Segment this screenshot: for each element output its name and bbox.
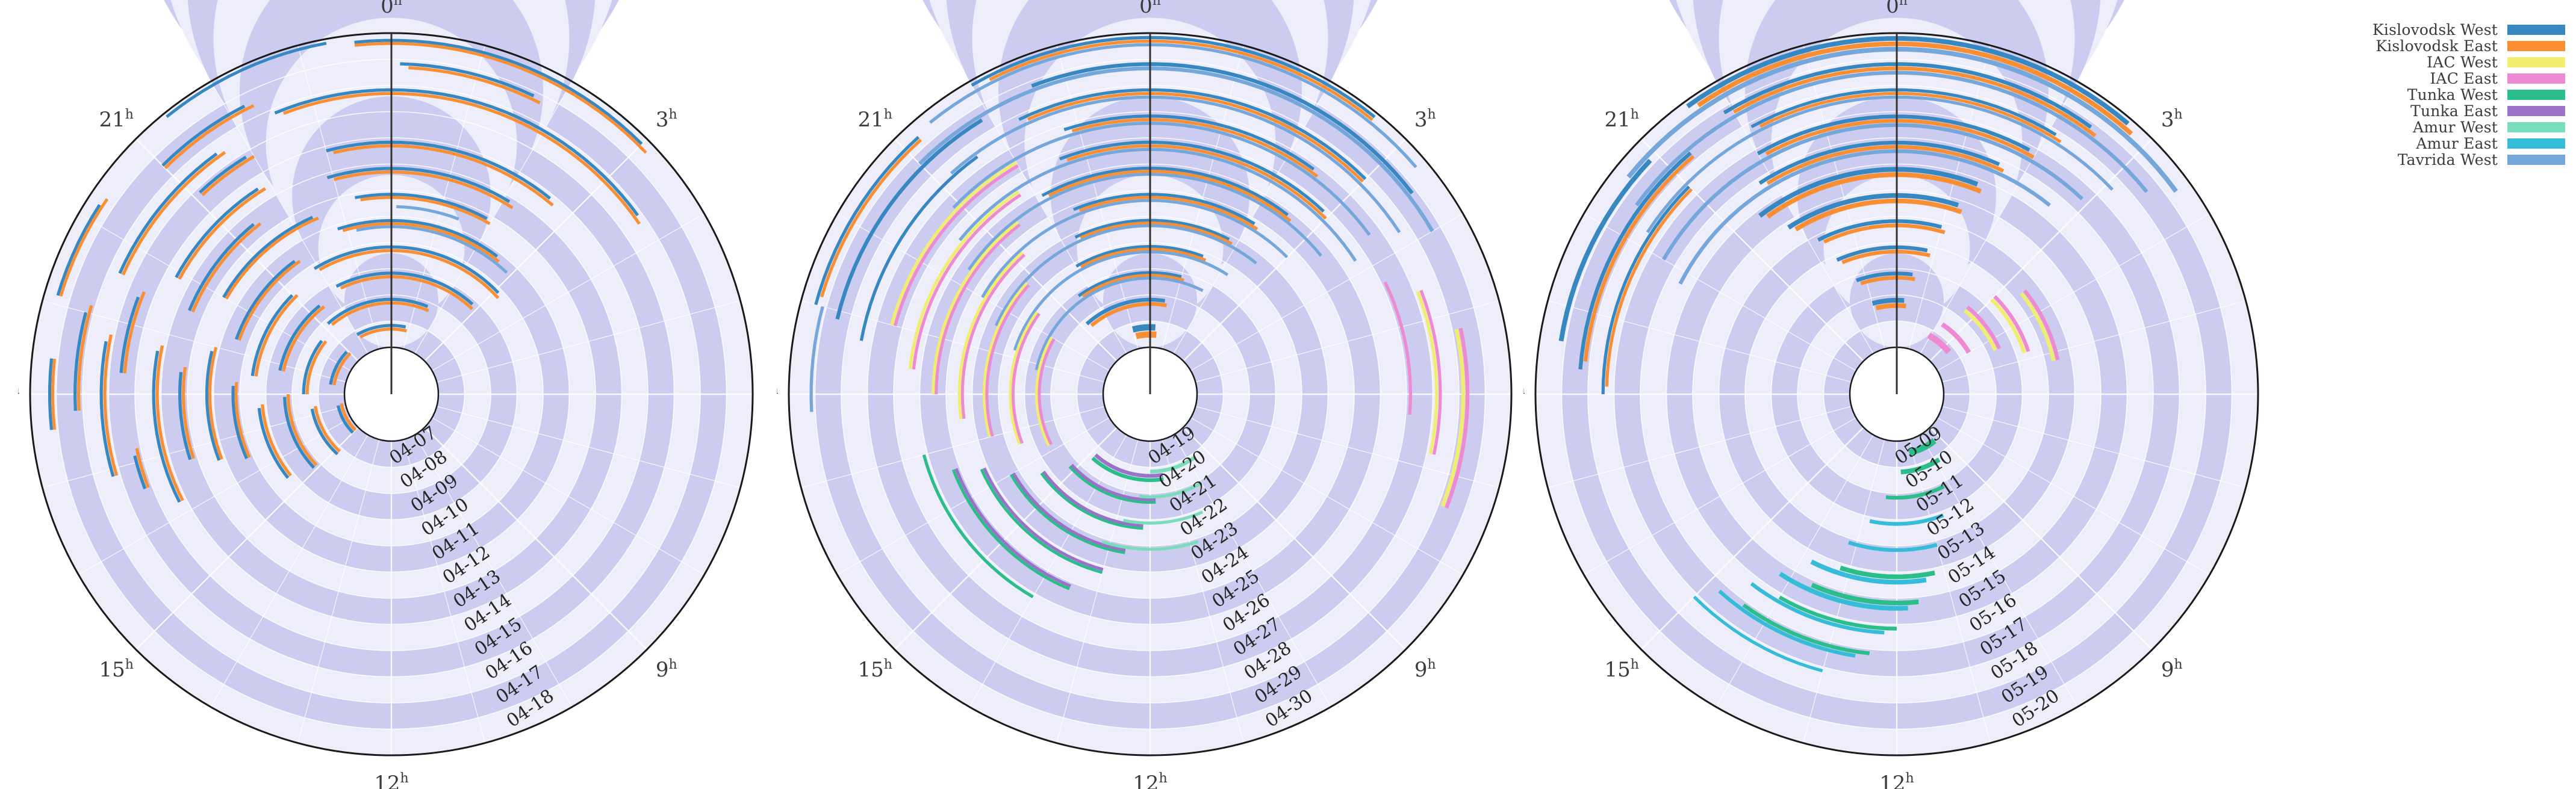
hour-tick-label: 18h — [1523, 382, 1525, 407]
legend-color-swatch — [2507, 106, 2565, 116]
hour-tick-label: 12h — [1879, 771, 1914, 789]
svg-text:12h: 12h — [1133, 771, 1167, 789]
hour-tick-label: 9h — [1414, 657, 1436, 682]
hour-tick-label: 21h — [99, 107, 133, 132]
legend-item[interactable]: Kislovodsk East — [2312, 38, 2565, 54]
svg-text:15h: 15h — [1604, 657, 1638, 682]
legend-item-label: Tunka East — [2410, 102, 2498, 120]
polar-panel-2: 0h3h6h9h12h15h18h21h05-0905-1005-1105-12… — [1523, 0, 2270, 789]
hour-tick-label: 18h — [777, 382, 779, 407]
svg-text:9h: 9h — [656, 657, 677, 682]
hour-tick-label: 9h — [2161, 657, 2183, 682]
svg-text:18h: 18h — [18, 382, 20, 407]
legend-item-label: Kislovodsk West — [2372, 21, 2498, 39]
legend-item-label: Tavrida West — [2398, 151, 2498, 169]
hour-tick-label: 3h — [656, 107, 677, 132]
polar-axes: 0h3h6h9h12h15h18h21h04-1904-2004-2104-22… — [777, 0, 1523, 789]
svg-text:12h: 12h — [1879, 771, 1914, 789]
hour-tick-label: 21h — [857, 107, 892, 132]
hour-tick-label: 18h — [18, 382, 20, 407]
hour-tick-label: 15h — [99, 657, 133, 682]
svg-text:3h: 3h — [2161, 107, 2183, 132]
legend-item-label: Tunka West — [2407, 86, 2498, 104]
figure-root: 0h3h6h9h12h15h18h21h04-0704-0804-0904-10… — [0, 0, 2576, 789]
legend-item[interactable]: IAC West — [2312, 54, 2565, 70]
svg-text:21h: 21h — [99, 107, 133, 132]
polar-axes: 0h3h6h9h12h15h18h21h04-0704-0804-0904-10… — [18, 0, 765, 789]
hour-tick-label: 15h — [857, 657, 892, 682]
observation-arc — [1133, 327, 1156, 330]
legend-item[interactable]: Amur West — [2312, 119, 2565, 135]
polar-axes: 0h3h6h9h12h15h18h21h05-0905-1005-1105-12… — [1523, 0, 2270, 789]
polar-panel-1: 0h3h6h9h12h15h18h21h04-1904-2004-2104-22… — [777, 0, 1523, 789]
legend-item[interactable]: Amur East — [2312, 135, 2565, 152]
observation-arc — [1876, 306, 1906, 308]
hour-tick-label: 9h — [656, 657, 677, 682]
svg-text:3h: 3h — [656, 107, 677, 132]
hour-tick-label: 12h — [1133, 771, 1167, 789]
legend-color-swatch — [2507, 41, 2565, 51]
svg-text:21h: 21h — [857, 107, 892, 132]
hour-tick-label: 3h — [1414, 107, 1436, 132]
hour-tick-label: 3h — [2161, 107, 2183, 132]
hour-tick-label: 12h — [374, 771, 408, 789]
legend-item[interactable]: Tunka West — [2312, 87, 2565, 103]
legend-item[interactable]: Tunka East — [2312, 103, 2565, 119]
legend-item[interactable]: IAC East — [2312, 70, 2565, 87]
legend-item-label: Kislovodsk East — [2375, 37, 2498, 55]
svg-text:18h: 18h — [1523, 382, 1525, 407]
polar-panel-0: 0h3h6h9h12h15h18h21h04-0704-0804-0904-10… — [18, 0, 765, 789]
legend-color-swatch — [2507, 138, 2565, 149]
legend-item[interactable]: Kislovodsk West — [2312, 22, 2565, 38]
svg-text:9h: 9h — [1414, 657, 1436, 682]
svg-text:18h: 18h — [777, 382, 779, 407]
legend-item[interactable]: Tavrida West — [2312, 152, 2565, 168]
legend-color-swatch — [2507, 122, 2565, 132]
observation-arc — [1136, 335, 1157, 336]
legend-item-label: IAC East — [2430, 70, 2498, 87]
legend-color-swatch — [2507, 25, 2565, 35]
legend-item-label: IAC West — [2427, 54, 2498, 71]
svg-text:9h: 9h — [2161, 657, 2183, 682]
legend-color-swatch — [2507, 73, 2565, 84]
legend-color-swatch — [2507, 155, 2565, 165]
legend: Kislovodsk WestKislovodsk EastIAC WestIA… — [2312, 22, 2565, 168]
legend-color-swatch — [2507, 90, 2565, 100]
hour-tick-label: 15h — [1604, 657, 1638, 682]
svg-text:3h: 3h — [1414, 107, 1436, 132]
hour-tick-label: 21h — [1604, 107, 1638, 132]
legend-color-swatch — [2507, 57, 2565, 67]
svg-text:12h: 12h — [374, 771, 408, 789]
svg-text:15h: 15h — [857, 657, 892, 682]
legend-item-label: Amur East — [2416, 135, 2498, 152]
svg-text:21h: 21h — [1604, 107, 1638, 132]
svg-text:15h: 15h — [99, 657, 133, 682]
legend-item-label: Amur West — [2413, 119, 2498, 136]
